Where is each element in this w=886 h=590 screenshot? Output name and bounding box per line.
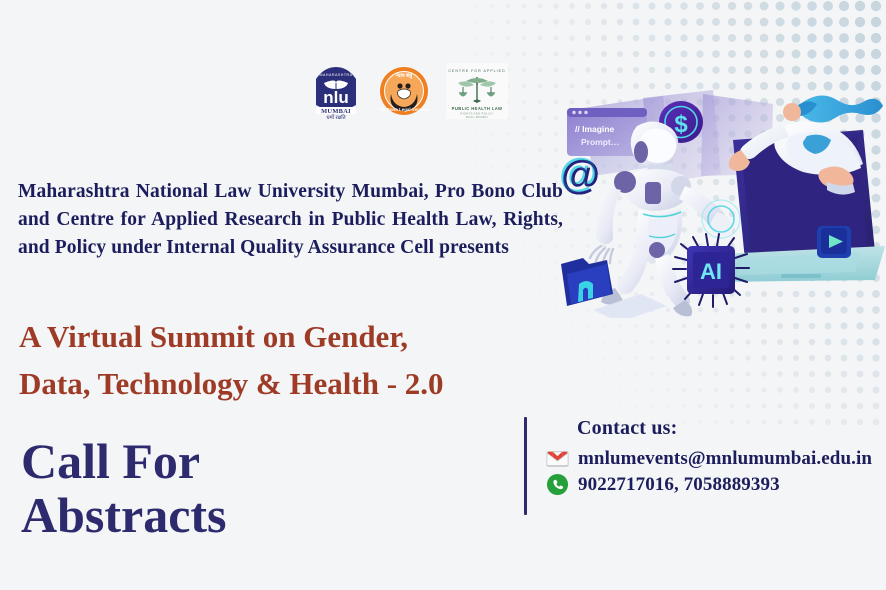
logo-row: MAHARASHTRA nlu MUMBAI धर्मो रक्षति न्या… [310, 63, 508, 119]
svg-text:MUMBAI: MUMBAI [321, 108, 351, 115]
svg-text:MAHARASHTRA: MAHARASHTRA [319, 73, 352, 77]
contact-body: Contact us: mnlumevents@mnlumumbai.edu.i… [546, 417, 872, 515]
contact-phones: 9022717016, 7058889393 [578, 474, 780, 496]
contact-heading: Contact us: [577, 417, 872, 440]
centre-for-applied-research-public-health-law-logo: CENTRE FOR APPLIED PUBLIC HEALTH LAW RIG… [446, 63, 508, 119]
svg-text:Pro Bono Legal Services: Pro Bono Legal Services [379, 107, 429, 112]
contact-email: mnlumevents@mnlumumbai.edu.in [578, 448, 872, 470]
contact-phone-line[interactable]: 9022717016, 7058889393 [546, 473, 872, 496]
contact-email-line[interactable]: mnlumevents@mnlumumbai.edu.in [546, 447, 872, 470]
summit-title: A Virtual Summit on Gender, Data, Techno… [19, 313, 579, 407]
whatsapp-icon [546, 473, 569, 496]
svg-text:PUBLIC HEALTH LAW: PUBLIC HEALTH LAW [452, 106, 503, 111]
gmail-envelope-icon [546, 447, 569, 470]
svg-text:AI: AI [700, 259, 722, 284]
poster-canvas: // Imagine Prompt… @ @ @ $ [0, 0, 886, 590]
at-sign-icon: @ @ @ [559, 151, 600, 197]
contact-divider [524, 417, 527, 515]
play-button-icon [817, 226, 851, 258]
pro-bono-legal-services-logo: न्याय बंधु Pro Bono Legal Services [379, 66, 429, 116]
mnlu-mumbai-logo: MAHARASHTRA nlu MUMBAI धर्मो रक्षति [310, 63, 362, 119]
svg-text:CENTRE FOR APPLIED: CENTRE FOR APPLIED [448, 69, 505, 73]
svg-text:धर्मो रक्षति: धर्मो रक्षति [326, 114, 346, 119]
svg-text:न्याय बंधु: न्याय बंधु [395, 72, 413, 79]
call-for-abstracts-heading: Call For Abstracts [21, 434, 421, 542]
svg-text:MNLU MUMBAI: MNLU MUMBAI [466, 115, 488, 119]
contact-block: Contact us: mnlumevents@mnlumumbai.edu.i… [524, 417, 872, 515]
svg-text:RIGHTS AND POLICY: RIGHTS AND POLICY [460, 112, 493, 116]
svg-text:// Imagine: // Imagine [575, 124, 614, 134]
svg-text:$: $ [674, 111, 688, 138]
svg-text:nlu: nlu [323, 88, 349, 107]
svg-text:Prompt…: Prompt… [581, 137, 619, 147]
intro-paragraph: Maharashtra National Law University Mumb… [18, 178, 563, 262]
ai-collaboration-illustration: // Imagine Prompt… @ @ @ $ [545, 78, 886, 318]
svg-text:@: @ [561, 153, 600, 197]
